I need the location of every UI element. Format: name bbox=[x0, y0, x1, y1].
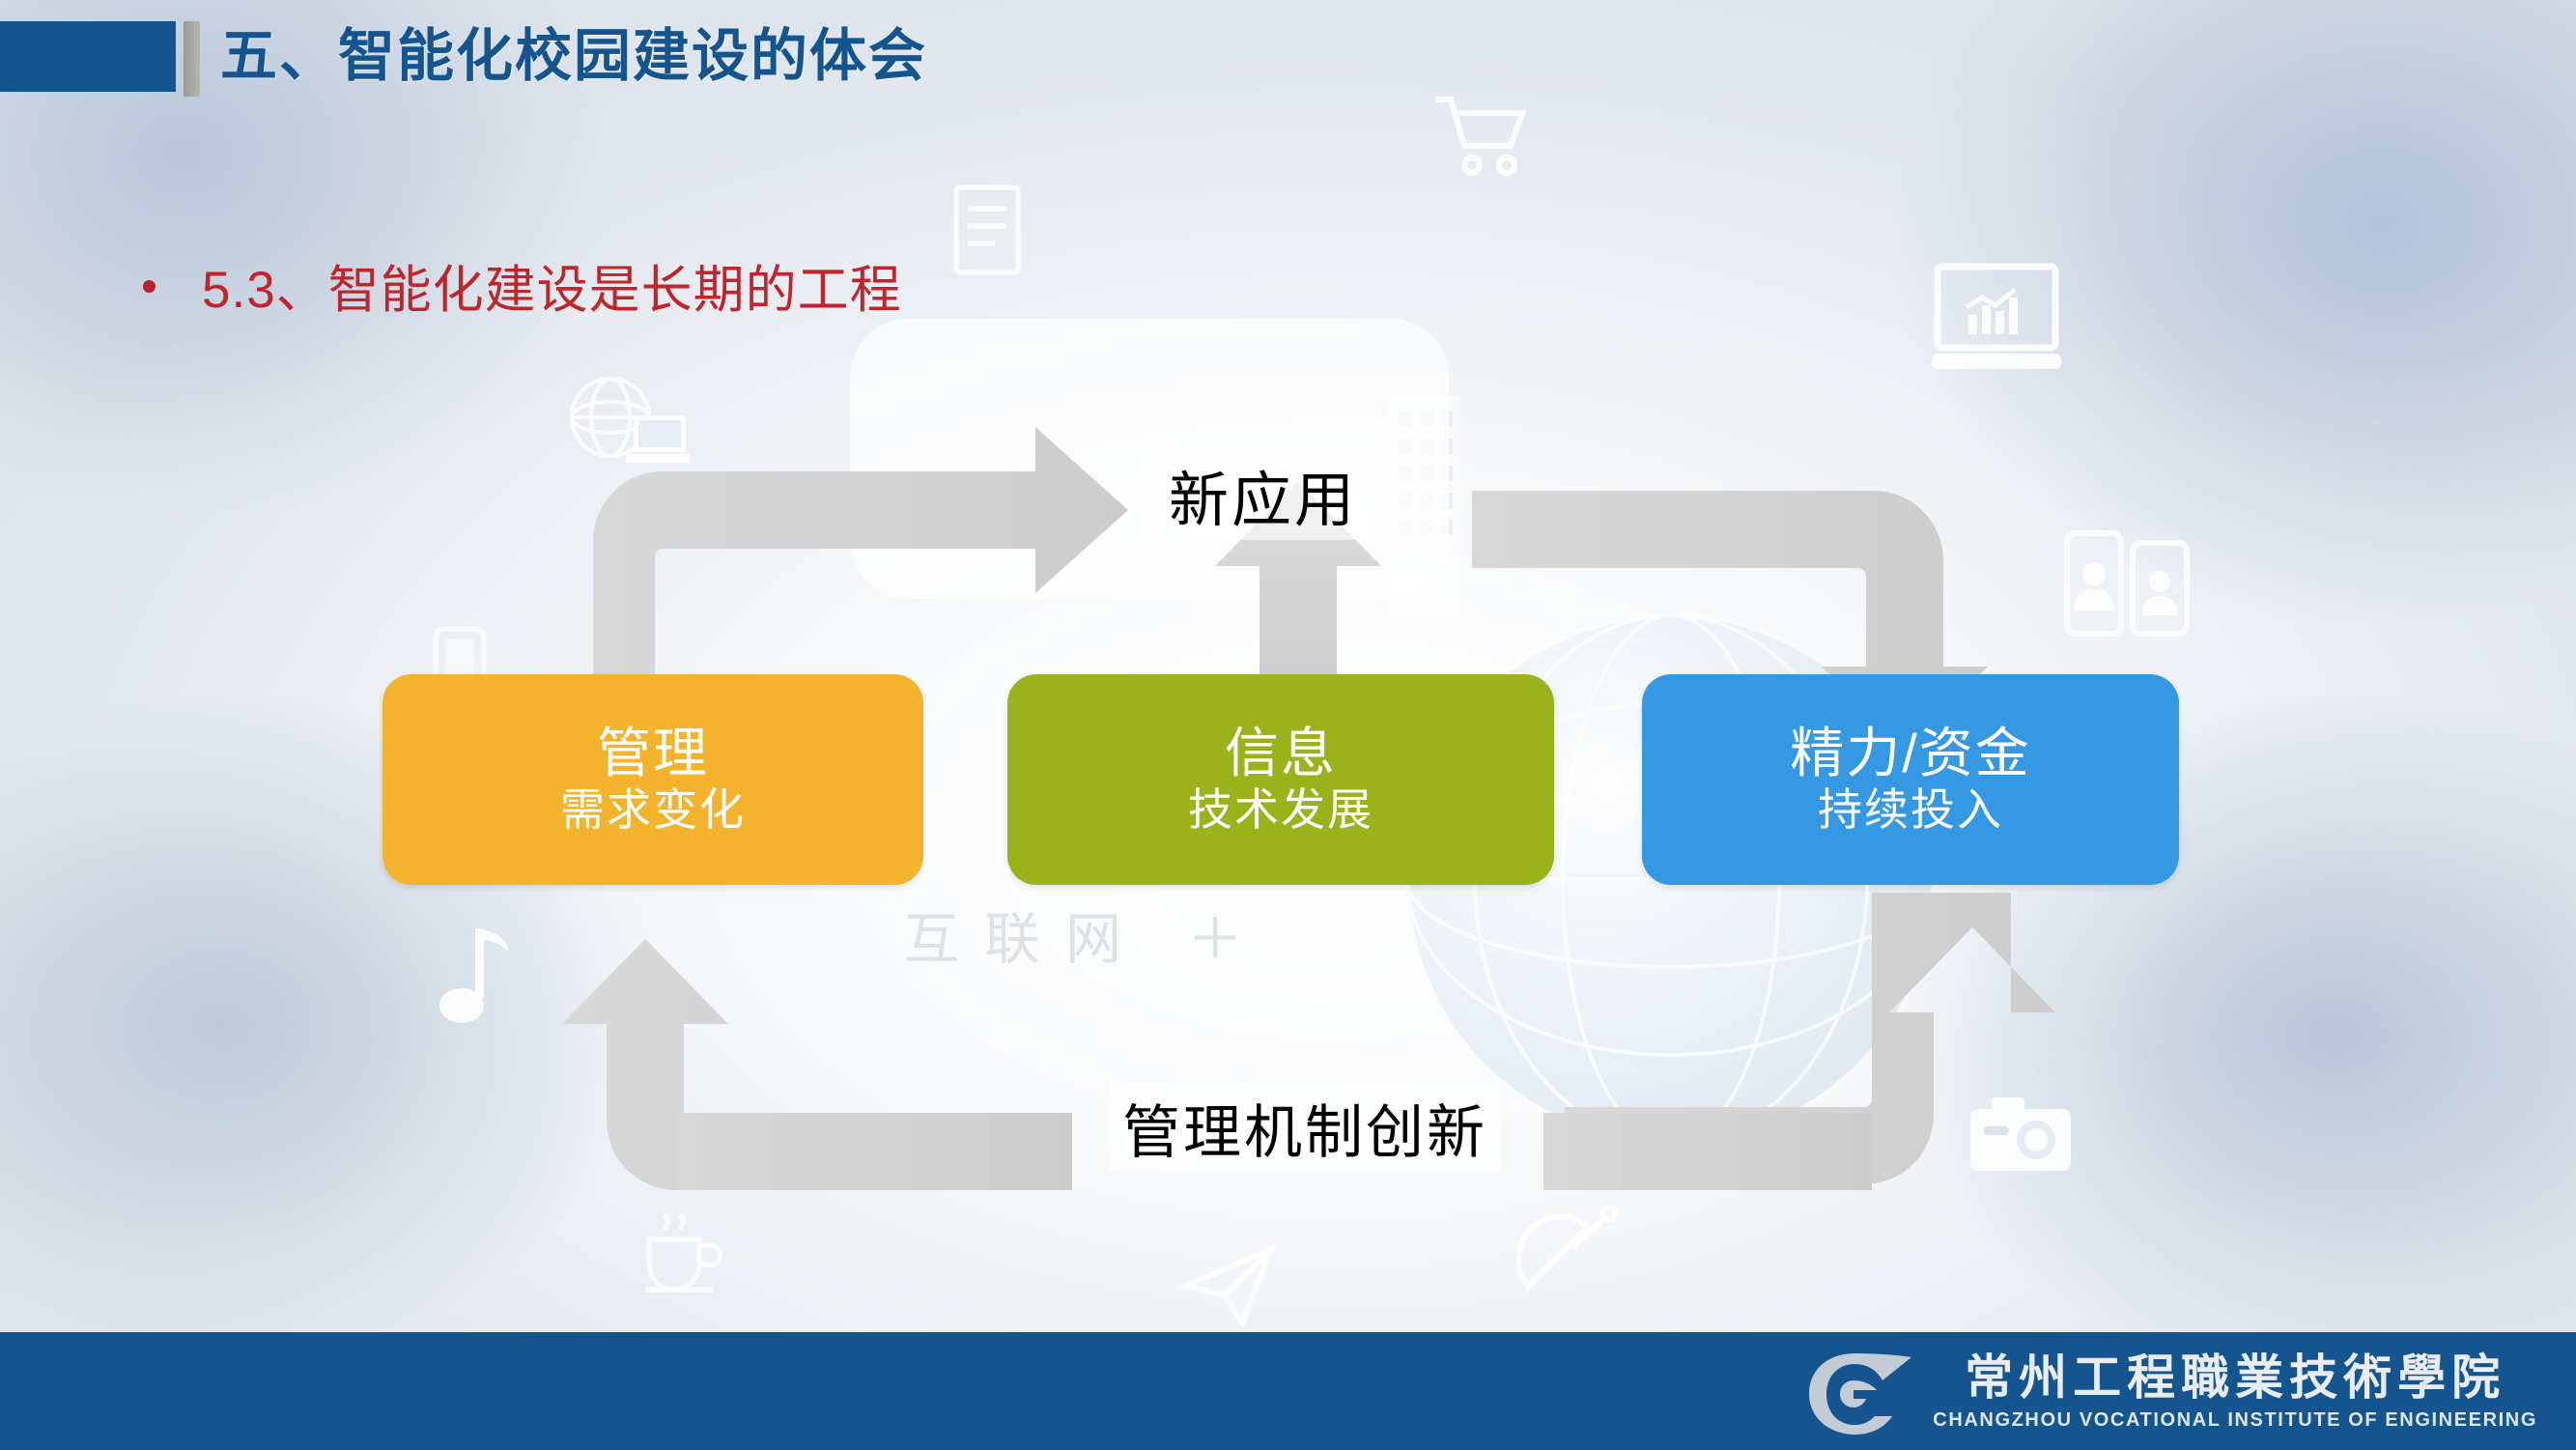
institution-logo: 常州工程職業技術學院 CHANGZHOU VOCATIONAL INSTITUT… bbox=[1799, 1342, 2537, 1442]
box-resources-subtitle: 持续投入 bbox=[1818, 785, 2003, 836]
box-management-title: 管理 bbox=[597, 725, 709, 782]
logo-swoosh-icon bbox=[1799, 1342, 1917, 1442]
logo-english-name: CHANGZHOU VOCATIONAL INSTITUTE OF ENGINE… bbox=[1933, 1409, 2537, 1432]
box-information-subtitle: 技术发展 bbox=[1188, 785, 1373, 836]
bottom-rail-left-segment bbox=[676, 1113, 1072, 1190]
arrow-manage-to-newapp bbox=[593, 427, 1128, 676]
diagram-box-information[interactable]: 信息 技术发展 bbox=[1007, 674, 1554, 885]
box-management-subtitle: 需求变化 bbox=[560, 785, 746, 836]
box-resources-title: 精力/资金 bbox=[1790, 725, 2031, 782]
logo-text-block: 常州工程職業技術學院 CHANGZHOU VOCATIONAL INSTITUT… bbox=[1933, 1352, 2537, 1432]
slide-canvas: 五、智能化校园建设的体会 5.3、智能化建设是长期的工程 互联网 ＋ bbox=[0, 0, 2576, 1450]
node-label-management-innovation: 管理机制创新 bbox=[1109, 1084, 1501, 1172]
footer-bar: 常州工程職業技術學院 CHANGZHOU VOCATIONAL INSTITUT… bbox=[0, 1332, 2576, 1450]
box-information-title: 信息 bbox=[1225, 725, 1337, 782]
logo-chinese-name: 常州工程職業技術學院 bbox=[1965, 1352, 2505, 1404]
node-label-new-application: 新应用 bbox=[1155, 449, 1371, 540]
diagram-box-management[interactable]: 管理 需求变化 bbox=[382, 674, 923, 885]
diagram-box-resources[interactable]: 精力/资金 持续投入 bbox=[1642, 674, 2179, 885]
bottom-rail-right-segment bbox=[1543, 1113, 1872, 1190]
